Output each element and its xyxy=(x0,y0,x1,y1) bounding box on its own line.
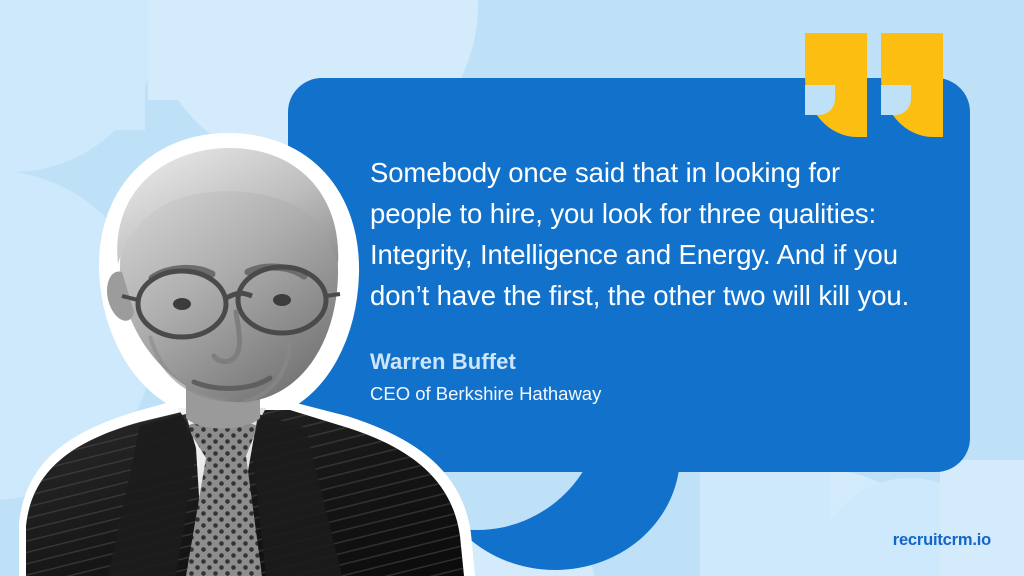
bg-square-top-mid xyxy=(148,0,318,100)
quotation-mark-glyph-right xyxy=(881,33,943,137)
portrait-warren-buffet xyxy=(0,96,490,576)
quote-graphic-canvas: Somebody once said that in looking for p… xyxy=(0,0,1024,576)
quotation-mark-glyph-left xyxy=(805,33,867,137)
brand-logo: recruitcrm.io xyxy=(893,531,991,550)
bg-square-right-edge xyxy=(940,460,1024,576)
quotation-mark-icon xyxy=(805,33,945,143)
